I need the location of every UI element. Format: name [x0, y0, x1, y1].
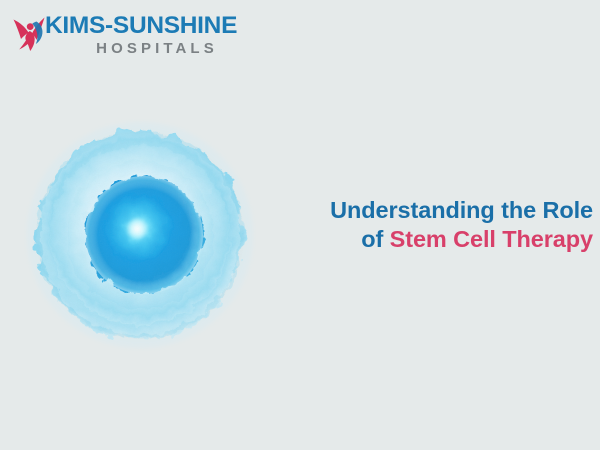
headline-line-2-highlight: Stem Cell Therapy — [390, 226, 593, 252]
poster-canvas: KIMS-SUNSHINE HOSPITALS — [0, 0, 600, 450]
brand-logo[interactable]: KIMS-SUNSHINE HOSPITALS — [12, 12, 272, 66]
logo-wordmark: KIMS-SUNSHINE HOSPITALS — [45, 12, 265, 58]
headline-block: Understanding the Role of Stem Cell Ther… — [330, 196, 593, 254]
headline-line-2: of Stem Cell Therapy — [330, 225, 593, 254]
logo-subtitle: HOSPITALS — [45, 39, 265, 58]
stem-cell-illustration — [24, 119, 256, 351]
logo-brand-name: KIMS-SUNSHINE — [45, 12, 265, 39]
kims-sunshine-figure-icon — [12, 13, 48, 53]
headline-line-2-prefix: of — [361, 226, 389, 252]
headline-line-1: Understanding the Role — [330, 196, 593, 225]
